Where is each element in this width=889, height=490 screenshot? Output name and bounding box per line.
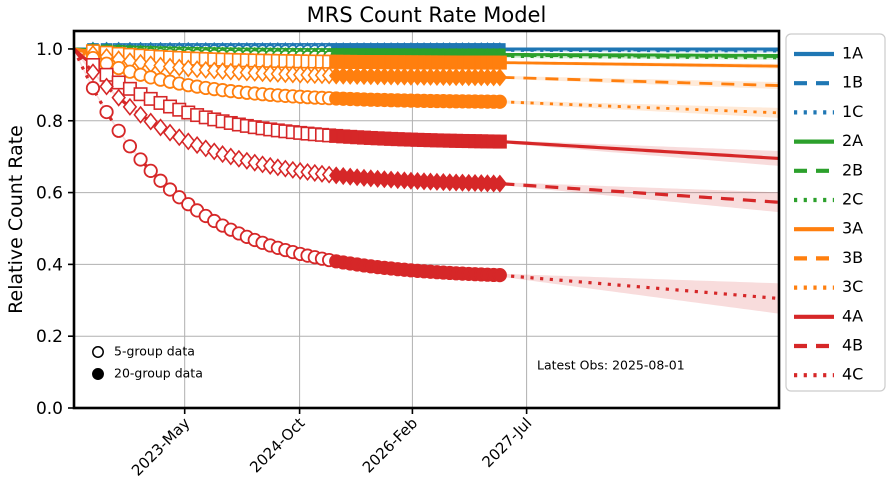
data-marker (87, 82, 99, 94)
series-line (501, 50, 779, 51)
legend[interactable]: 1A1B1C2A2B2C3A3B3C4A4B4C (786, 34, 885, 391)
data-marker (494, 135, 506, 147)
data-marker (494, 269, 506, 281)
legend-label: 2A (842, 131, 863, 150)
legend-label: 1C (842, 102, 863, 121)
data-marker (494, 96, 506, 108)
chart-svg: MRS Count Rate Model0.00.20.40.60.81.0Re… (0, 0, 889, 490)
legend-label: 3B (842, 248, 863, 267)
marker-legend-label: 5-group data (114, 344, 195, 359)
marker-legend: 5-group data20-group data (93, 344, 203, 381)
legend-label: 3A (842, 219, 863, 238)
legend-box (786, 34, 885, 391)
open-circle-icon (93, 347, 103, 357)
filled-circle-icon (93, 369, 103, 379)
y-tick-label: 0.4 (36, 255, 63, 275)
chart-title: MRS Count Rate Model (307, 3, 547, 27)
y-tick-label: 0.6 (36, 184, 63, 204)
legend-label: 2C (842, 190, 863, 209)
series-layer (74, 43, 779, 314)
x-tick-label: 2023-May (128, 414, 194, 480)
x-axis: 2023-May2024-Oct2026-Feb2027-Jul (128, 408, 535, 480)
series-line (501, 57, 779, 58)
legend-label: 4C (842, 365, 863, 384)
legend-label: 4A (842, 306, 863, 325)
y-tick-label: 0.8 (36, 112, 63, 132)
x-tick-label: 2027-Jul (478, 414, 535, 471)
legend-label: 1B (842, 73, 863, 92)
y-axis-label: Relative Count Rate (5, 125, 27, 314)
y-tick-label: 0.0 (36, 399, 63, 419)
data-marker (134, 153, 146, 165)
legend-label: 4B (842, 336, 863, 355)
y-tick-label: 0.2 (36, 327, 63, 347)
legend-label: 2B (842, 160, 863, 179)
data-marker (100, 106, 112, 118)
data-marker (112, 125, 124, 137)
y-tick-label: 1.0 (36, 40, 63, 60)
y-axis: 0.00.20.40.60.81.0 (36, 40, 74, 419)
data-marker (124, 140, 136, 152)
chart-figure: MRS Count Rate Model0.00.20.40.60.81.0Re… (0, 0, 889, 490)
legend-label: 3C (842, 277, 863, 296)
series-line (501, 63, 779, 67)
latest-obs-annotation: Latest Obs: 2025-08-01 (537, 358, 685, 373)
x-tick-label: 2024-Oct (246, 414, 308, 476)
data-marker (494, 56, 506, 68)
legend-label: 1A (842, 44, 863, 63)
x-tick-label: 2026-Feb (359, 414, 421, 476)
marker-legend-label: 20-group data (114, 366, 203, 381)
data-marker (145, 165, 157, 177)
